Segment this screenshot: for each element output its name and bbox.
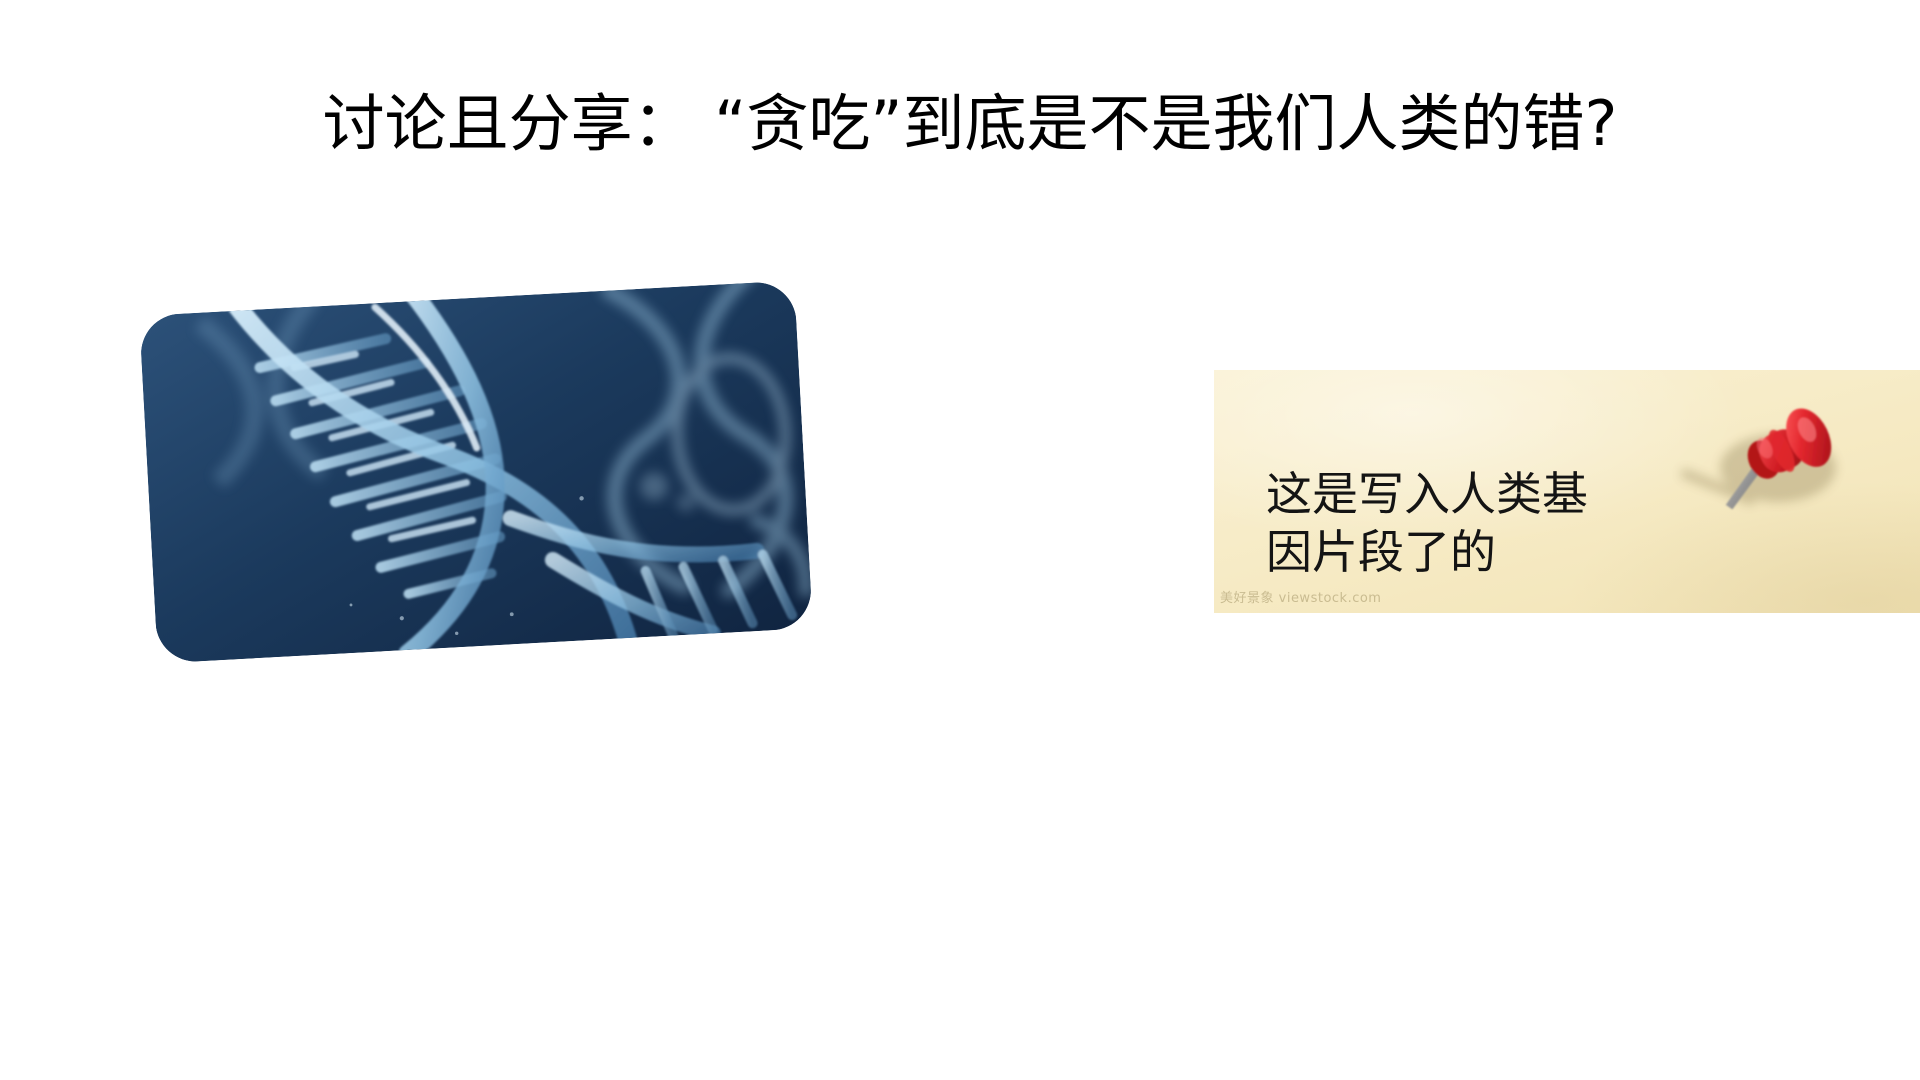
note-text: 这是写入人类基 因片段了的 <box>1266 466 1736 582</box>
dna-photo[interactable] <box>139 281 813 664</box>
sticky-note-image[interactable]: 这是写入人类基 因片段了的 美好景象 viewstock.com <box>1214 370 1920 613</box>
slide-canvas: 讨论且分享： “贪吃”到底是不是我们人类的错? <box>0 0 1920 1080</box>
dna-helix-illustration <box>139 281 813 664</box>
slide-title: 讨论且分享： “贪吃”到底是不是我们人类的错? <box>120 88 1820 159</box>
image-watermark: 美好景象 viewstock.com <box>1220 587 1381 606</box>
